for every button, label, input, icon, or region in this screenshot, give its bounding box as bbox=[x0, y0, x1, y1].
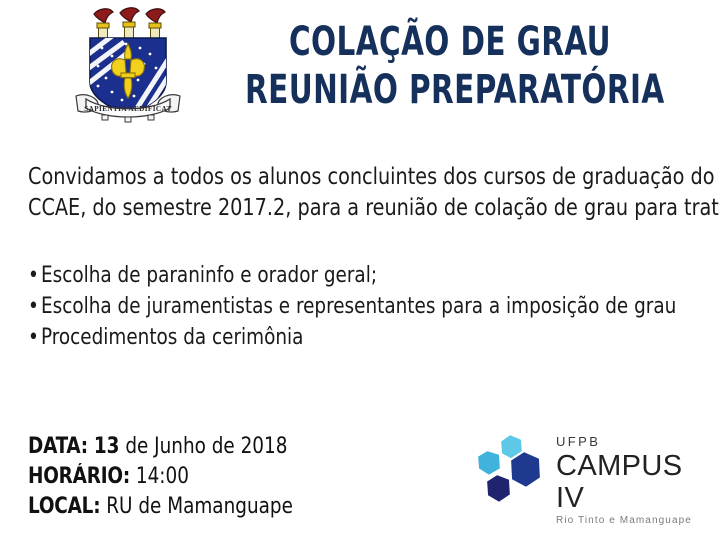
list-item-label: Procedimentos da cerimônia bbox=[41, 325, 303, 350]
detail-date-value: de Junho de 2018 bbox=[125, 434, 287, 459]
crest-motto-text: SAPIENTIA AEDIFICAT bbox=[84, 105, 172, 113]
title-line-primary: COLAÇÃO DE GRAU bbox=[245, 22, 655, 62]
detail-location-label: LOCAL: bbox=[28, 494, 100, 519]
detail-time: HORÁRIO: 14:00 bbox=[28, 462, 293, 492]
campus-logo-tagline: Rio Tinto e Mamanguape bbox=[556, 515, 706, 527]
detail-date: DATA: 13 de Junho de 2018 bbox=[28, 432, 293, 462]
poster-header: SAPIENTIA AEDIFICAT COLAÇÃO DE GRAU REUN… bbox=[0, 0, 720, 140]
detail-location-value: RU de Mamanguape bbox=[106, 494, 293, 519]
list-item-label: Escolha de paraninfo e orador geral; bbox=[41, 263, 377, 288]
paragraph-line-1: Convidamos a todos os alunos concluintes… bbox=[28, 162, 642, 193]
list-item-label: Escolha de juramentistas e representante… bbox=[41, 294, 676, 319]
detail-location: LOCAL: RU de Mamanguape bbox=[28, 492, 293, 522]
detail-time-label: HORÁRIO: bbox=[28, 464, 130, 489]
bullet-icon: • bbox=[28, 322, 41, 353]
paragraph-line-2: CCAE, do semestre 2017.2, para a reunião… bbox=[28, 193, 642, 224]
list-item: •Escolha de juramentistas e representant… bbox=[28, 291, 651, 322]
campus-logo-text: UFPB CAMPUS IV Rio Tinto e Mamanguape bbox=[556, 434, 706, 527]
poster-title: COLAÇÃO DE GRAU REUNIÃO PREPARATÓRIA bbox=[200, 22, 700, 110]
detail-date-label: DATA: bbox=[28, 434, 88, 459]
campus-hexagon-cluster-icon bbox=[474, 430, 548, 510]
bullet-icon: • bbox=[28, 260, 41, 291]
list-item: •Procedimentos da cerimônia bbox=[28, 322, 651, 353]
campus-logo: UFPB CAMPUS IV Rio Tinto e Mamanguape bbox=[474, 428, 700, 514]
invitation-paragraph: Convidamos a todos os alunos concluintes… bbox=[28, 162, 688, 224]
list-item: •Escolha de paraninfo e orador geral; bbox=[28, 260, 651, 291]
campus-logo-name: CAMPUS IV bbox=[556, 450, 706, 514]
title-line-secondary: REUNIÃO PREPARATÓRIA bbox=[245, 70, 655, 110]
event-details: DATA: 13 de Junho de 2018 HORÁRIO: 14:00… bbox=[28, 432, 313, 522]
ufpb-coat-of-arms-icon: SAPIENTIA AEDIFICAT bbox=[68, 4, 188, 124]
bullet-icon: • bbox=[28, 291, 41, 322]
agenda-list: •Escolha de paraninfo e orador geral; •E… bbox=[28, 260, 698, 353]
campus-logo-ufpb: UFPB bbox=[556, 434, 706, 449]
detail-time-value: 14:00 bbox=[136, 464, 189, 489]
detail-date-day: 13 bbox=[94, 434, 120, 459]
poster-canvas: SAPIENTIA AEDIFICAT COLAÇÃO DE GRAU REUN… bbox=[0, 0, 720, 540]
